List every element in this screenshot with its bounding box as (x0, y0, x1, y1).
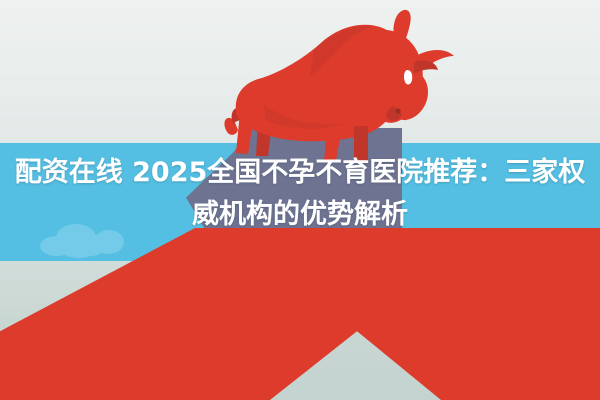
headline-line-1: 配资在线 2025全国不孕不育医院推荐：三家权 (14, 152, 586, 194)
promo-banner: 配资在线 2025全国不孕不育医院推荐：三家权 威机构的优势解析 (0, 0, 600, 400)
headline-line-2: 威机构的优势解析 (14, 194, 586, 236)
banner-headline: 配资在线 2025全国不孕不育医院推荐：三家权 威机构的优势解析 (0, 152, 600, 236)
